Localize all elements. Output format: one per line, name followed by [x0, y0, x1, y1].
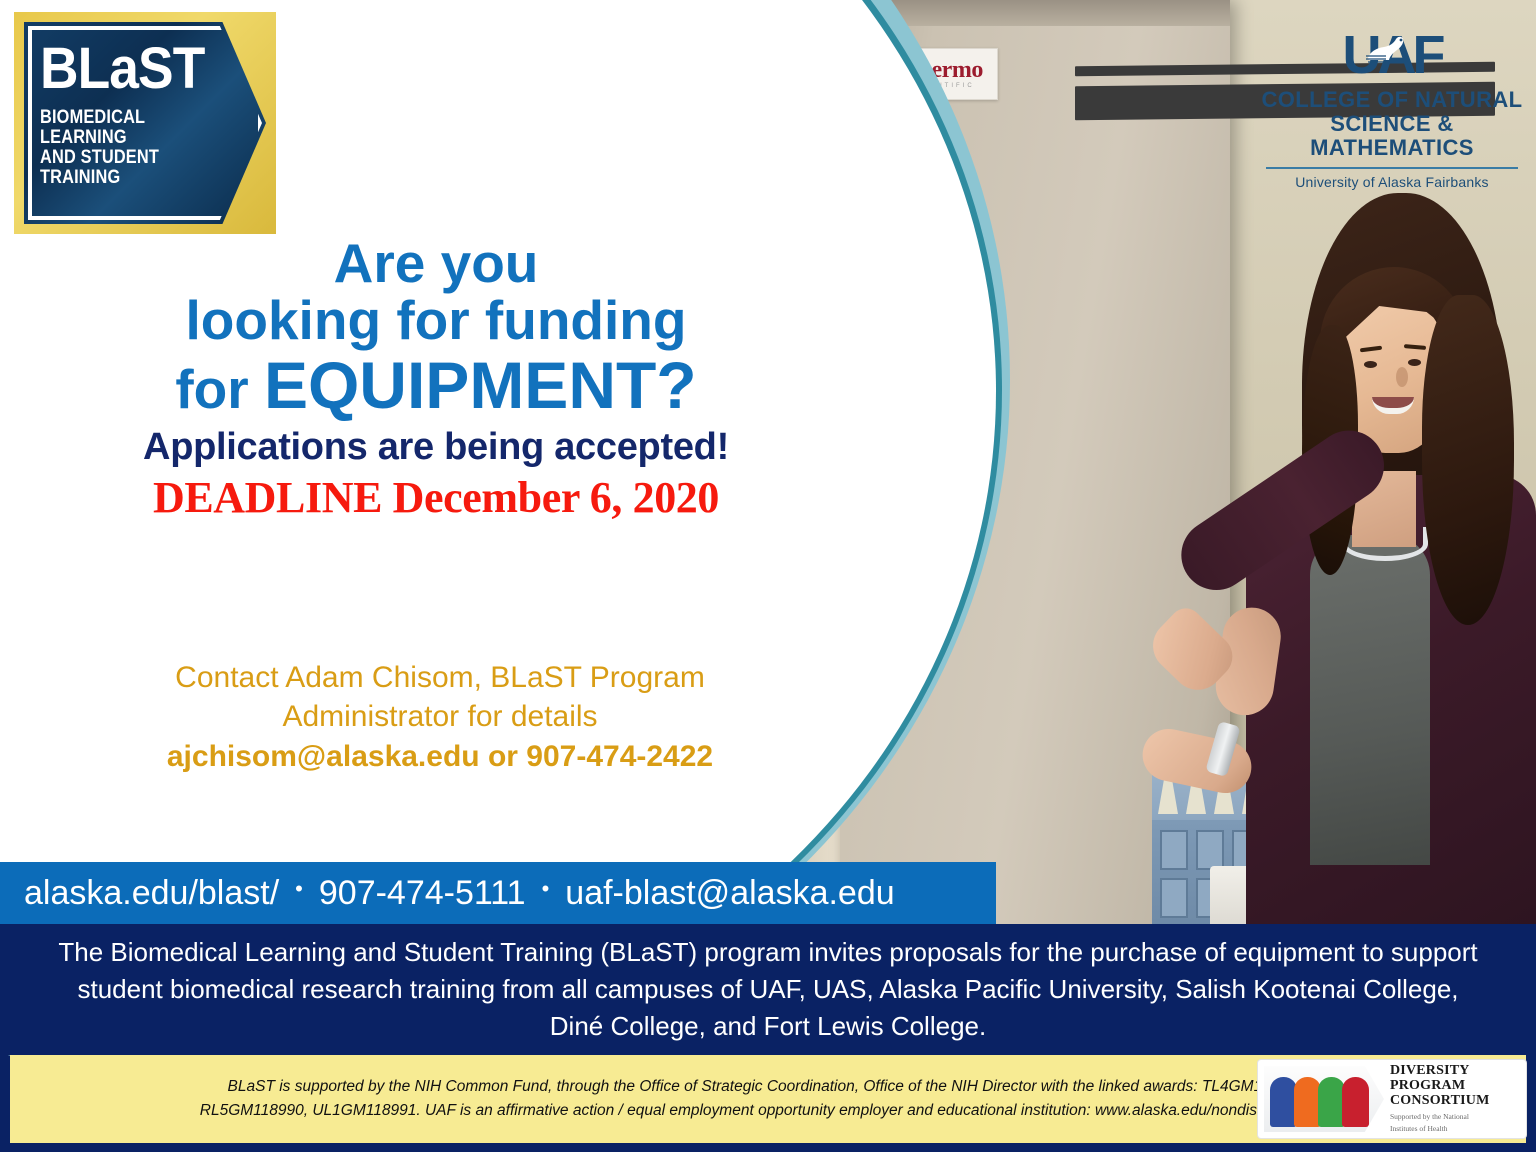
- headline-line-1: Are you: [86, 236, 786, 291]
- grey-shirt: [1310, 535, 1430, 865]
- bullet-separator-2: •: [542, 876, 550, 902]
- headline-for-prefix: for: [175, 358, 264, 420]
- blast-tagline-line1: BIOMEDICAL LEARNING: [40, 108, 212, 148]
- uaf-cnsm-logo[interactable]: UAF COLLEGE OF NATURAL SCIENCE & MATHEMA…: [1258, 28, 1526, 178]
- blast-tagline-line2: AND STUDENT TRAINING: [40, 148, 212, 188]
- dpc-support-line-1: Supported by the National: [1390, 1112, 1520, 1121]
- polar-bear-icon: [1360, 34, 1416, 64]
- contact-line-2: Administrator for details: [110, 697, 770, 736]
- contact-block: Contact Adam Chisom, BLaST Program Admin…: [110, 658, 770, 774]
- nose: [1396, 367, 1408, 387]
- description-band: The Biomedical Learning and Student Trai…: [0, 924, 1536, 1055]
- headline-line-3: for EQUIPMENT?: [86, 350, 786, 421]
- blast-tagline: BIOMEDICAL LEARNING AND STUDENT TRAINING: [40, 108, 212, 188]
- dpc-line-2: PROGRAM: [1390, 1079, 1520, 1094]
- necklace: [1342, 527, 1428, 561]
- footer-disclaimer-text: BLaST is supported by the NIH Common Fun…: [173, 1075, 1363, 1124]
- dpc-line-1: DIVERSITY: [1390, 1064, 1520, 1079]
- phone-number[interactable]: 907-474-5111: [319, 874, 526, 913]
- deadline-text: DEADLINE December 6, 2020: [86, 473, 786, 522]
- headline-line-2: looking for funding: [86, 291, 786, 350]
- headline-block: Are you looking for funding for EQUIPMEN…: [86, 236, 786, 522]
- blast-wordmark: BLaST: [40, 40, 204, 98]
- contact-email-phone[interactable]: ajchisom@alaska.edu or 907-474-2422: [110, 740, 770, 774]
- dpc-heads-icon: [1264, 1066, 1384, 1132]
- diversity-program-consortium-logo[interactable]: DIVERSITY PROGRAM CONSORTIUM Supported b…: [1258, 1060, 1526, 1138]
- website-link[interactable]: alaska.edu/blast/: [24, 874, 279, 913]
- uaf-divider: [1266, 167, 1518, 169]
- uaf-wordmark: UAF: [1343, 28, 1442, 82]
- flyer-poster: Thermo SCIENTIFIC: [0, 0, 1536, 1152]
- description-paragraph: The Biomedical Learning and Student Trai…: [53, 934, 1483, 1045]
- uaf-college-name: COLLEGE OF NATURAL SCIENCE & MATHEMATICS: [1258, 88, 1526, 161]
- uaf-college-line1: COLLEGE OF NATURAL: [1258, 88, 1526, 112]
- dpc-text-block: DIVERSITY PROGRAM CONSORTIUM Supported b…: [1384, 1064, 1520, 1133]
- headline-equipment: EQUIPMENT?: [264, 348, 697, 422]
- hair-side-right: [1422, 295, 1514, 625]
- headline-applications-line: Applications are being accepted!: [86, 422, 786, 473]
- blast-logo[interactable]: BLaST BIOMEDICAL LEARNING AND STUDENT TR…: [14, 12, 276, 234]
- blue-contact-bar: alaska.edu/blast/ • 907-474-5111 • uaf-b…: [0, 862, 996, 924]
- bullet-separator-1: •: [295, 876, 303, 902]
- researcher-person: [1160, 175, 1536, 935]
- blast-logo-arrow: BLaST BIOMEDICAL LEARNING AND STUDENT TR…: [24, 22, 266, 224]
- dpc-line-3: CONSORTIUM: [1390, 1094, 1520, 1109]
- email-link[interactable]: uaf-blast@alaska.edu: [565, 874, 894, 913]
- uaf-college-line2: SCIENCE & MATHEMATICS: [1258, 112, 1526, 160]
- dpc-support-line-2: Institutes of Health: [1390, 1124, 1520, 1133]
- uaf-university-name: University of Alaska Fairbanks: [1258, 174, 1526, 190]
- contact-line-1: Contact Adam Chisom, BLaST Program: [110, 658, 770, 697]
